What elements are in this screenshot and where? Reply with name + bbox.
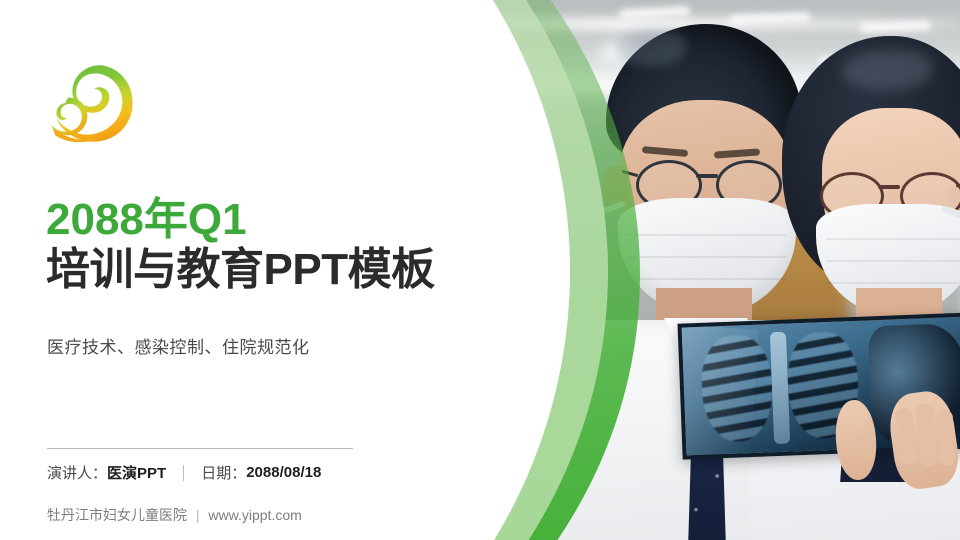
organization-name: 牡丹江市妇女儿童医院: [47, 507, 187, 523]
meta-line: 演讲人： 医演PPT 日期： 2088/08/18: [47, 462, 321, 483]
finger: [937, 410, 956, 467]
website-url[interactable]: www.yippt.com: [208, 507, 301, 523]
footer-divider: |: [196, 507, 200, 523]
mask-pleat: [826, 260, 960, 262]
presentation-cover-slide: 2088年Q1 培训与教育PPT模板 医疗技术、感染控制、住院规范化 演讲人： …: [0, 0, 960, 540]
subtitle: 医疗技术、感染控制、住院规范化: [47, 333, 310, 358]
presenter-value: 医演PPT: [107, 462, 166, 483]
spine: [770, 332, 790, 445]
mask-pleat: [826, 282, 960, 284]
date-value: 2088/08/18: [246, 464, 321, 481]
mask-pleat: [826, 238, 960, 240]
date-label: 日期：: [201, 462, 246, 483]
meta-separator: [183, 465, 184, 481]
cover-content: 2088年Q1 培训与教育PPT模板 医疗技术、感染控制、住院规范化 演讲人： …: [0, 0, 520, 540]
footer-line: 牡丹江市妇女儿童医院 | www.yippt.com: [47, 505, 302, 525]
meta-divider: [47, 448, 353, 449]
bridge: [696, 174, 718, 178]
title-block: 2088年Q1 培训与教育PPT模板: [46, 198, 516, 295]
hospital-swirl-logo: [45, 57, 137, 149]
mask-pleat: [628, 256, 786, 258]
page-title: 培训与教育PPT模板: [46, 245, 516, 295]
film-glare: [677, 324, 758, 460]
presenter-label: 演讲人：: [47, 462, 107, 483]
mask-pleat: [628, 278, 786, 280]
title-year: 2088年Q1: [46, 198, 516, 243]
bridge: [878, 185, 900, 189]
mask-pleat: [628, 234, 786, 236]
